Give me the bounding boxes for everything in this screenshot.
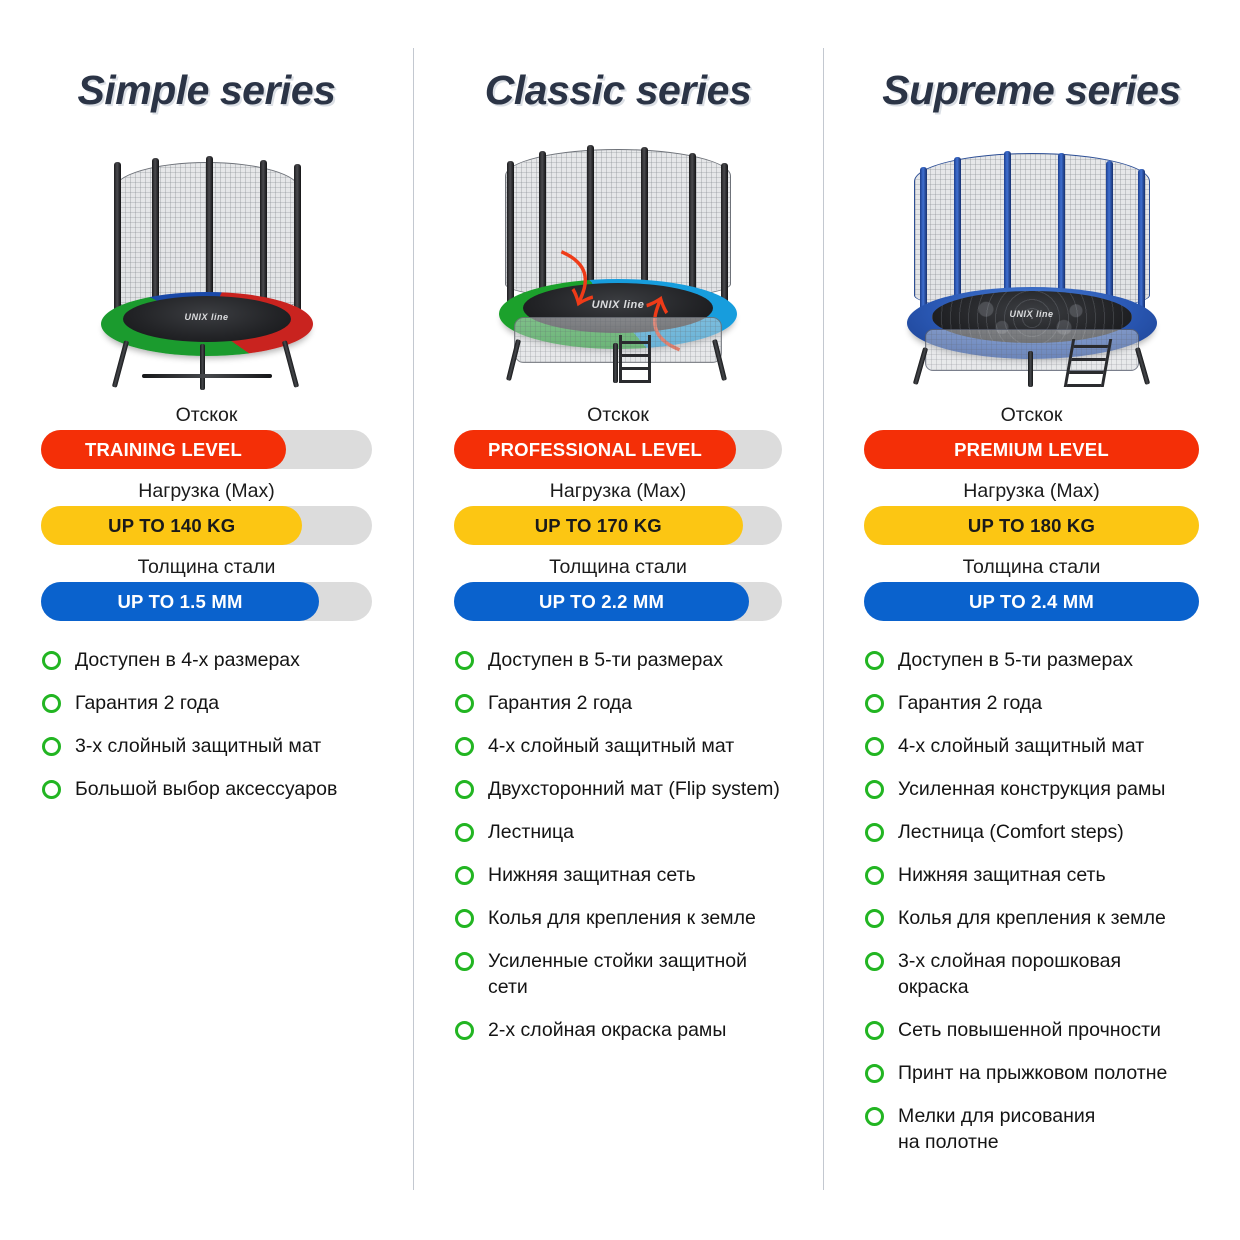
check-circle-icon (455, 866, 474, 885)
list-item: Усиленная конструкция рамы (865, 776, 1212, 802)
metrics-simple: Отскок TRAINING LEVEL Нагрузка (Max) UP … (0, 400, 413, 621)
list-item: Принт на прыжковом полотне (865, 1060, 1212, 1086)
list-item: 3-х слойный защитный мат (42, 733, 385, 759)
check-circle-icon (455, 694, 474, 713)
metric-bar-load: UP TO 180 KG (864, 506, 1199, 545)
page-title-simple: Simple series (0, 64, 413, 116)
list-item: 2-х слойная окраска рамы (455, 1017, 795, 1043)
metric-label-bounce: Отскок (41, 400, 372, 430)
brand-mark: UNIX line (592, 299, 645, 311)
metric-label-steel: Толщина стали (41, 552, 372, 582)
ladder-comfort-steps (1063, 339, 1111, 387)
metric-bar-steel: UP TO 2.2 MM (454, 582, 782, 621)
check-circle-icon (865, 1064, 884, 1083)
check-circle-icon (455, 823, 474, 842)
metric-bar-bounce: PREMIUM LEVEL (864, 430, 1199, 469)
list-item: Нижняя защитная сеть (865, 862, 1212, 888)
list-item: Усиленные стойки защитной сети (455, 948, 795, 1000)
brand-mark: UNIX line (184, 312, 228, 322)
metric-value-load: UP TO 140 KG (108, 515, 235, 537)
page-title-classic: Classic series (413, 64, 823, 116)
list-item: Нижняя защитная сеть (455, 862, 795, 888)
series-column-classic: Classic series UNIX line ⤵ ⤵ (413, 0, 823, 1240)
check-circle-icon (865, 737, 884, 756)
list-item: Колья для крепления к земле (455, 905, 795, 931)
list-item: Мелки для рисования на полотне (865, 1103, 1212, 1155)
metric-label-bounce: Отскок (454, 400, 782, 430)
metric-value-steel: UP TO 2.4 MM (969, 591, 1094, 613)
check-circle-icon (865, 1021, 884, 1040)
metric-value-load: UP TO 170 KG (535, 515, 662, 537)
product-image-classic: UNIX line ⤵ ⤵ (413, 134, 823, 384)
metric-value-load: UP TO 180 KG (968, 515, 1095, 537)
metric-label-load: Нагрузка (Max) (864, 476, 1199, 506)
list-item: 3-х слойная порошковая окраска (865, 948, 1212, 1000)
check-circle-icon (42, 694, 61, 713)
metric-bar-bounce: PROFESSIONAL LEVEL (454, 430, 782, 469)
list-item: Двухсторонний мат (Flip system) (455, 776, 795, 802)
check-circle-icon (865, 780, 884, 799)
metric-value-steel: UP TO 1.5 MM (117, 591, 242, 613)
metric-bar-load: UP TO 170 KG (454, 506, 782, 545)
metric-value-bounce: PROFESSIONAL LEVEL (488, 439, 702, 461)
metric-bar-steel: UP TO 1.5 MM (41, 582, 372, 621)
check-circle-icon (455, 952, 474, 971)
check-circle-icon (455, 1021, 474, 1040)
feature-list-supreme: Доступен в 5-ти размерах Гарантия 2 года… (823, 647, 1240, 1155)
check-circle-icon (865, 694, 884, 713)
metric-value-bounce: PREMIUM LEVEL (954, 439, 1109, 461)
check-circle-icon (455, 909, 474, 928)
series-column-simple: Simple series UNIX line Отс (0, 0, 413, 1240)
list-item: 4-х слойный защитный мат (455, 733, 795, 759)
check-circle-icon (455, 737, 474, 756)
metric-bar-steel: UP TO 2.4 MM (864, 582, 1199, 621)
metrics-supreme: Отскок PREMIUM LEVEL Нагрузка (Max) UP T… (823, 400, 1240, 621)
ladder (619, 335, 651, 383)
list-item: Лестница (455, 819, 795, 845)
list-item: Доступен в 5-ти размерах (455, 647, 795, 673)
check-circle-icon (865, 823, 884, 842)
check-circle-icon (865, 909, 884, 928)
check-circle-icon (42, 651, 61, 670)
list-item: Гарантия 2 года (455, 690, 795, 716)
metric-label-steel: Толщина стали (864, 552, 1199, 582)
list-item: Гарантия 2 года (865, 690, 1212, 716)
metric-value-steel: UP TO 2.2 MM (539, 591, 664, 613)
metric-label-bounce: Отскок (864, 400, 1199, 430)
check-circle-icon (42, 780, 61, 799)
series-column-supreme: Supreme series UNIX line (823, 0, 1240, 1240)
product-image-simple: UNIX line (0, 134, 413, 384)
metric-label-load: Нагрузка (Max) (41, 476, 372, 506)
metric-bar-load: UP TO 140 KG (41, 506, 372, 545)
check-circle-icon (455, 651, 474, 670)
feature-list-classic: Доступен в 5-ти размерах Гарантия 2 года… (413, 647, 823, 1043)
page-title-supreme: Supreme series (823, 64, 1240, 116)
metric-value-bounce: TRAINING LEVEL (85, 439, 242, 461)
list-item: Большой выбор аксессуаров (42, 776, 385, 802)
check-circle-icon (865, 952, 884, 971)
check-circle-icon (865, 651, 884, 670)
check-circle-icon (455, 780, 474, 799)
list-item: Доступен в 4-х размерах (42, 647, 385, 673)
list-item: 4-х слойный защитный мат (865, 733, 1212, 759)
series-comparison-board: Simple series UNIX line Отс (0, 0, 1240, 1240)
check-circle-icon (865, 1107, 884, 1126)
metrics-classic: Отскок PROFESSIONAL LEVEL Нагрузка (Max)… (413, 400, 823, 621)
list-item: Доступен в 5-ти размерах (865, 647, 1212, 673)
list-item: Колья для крепления к земле (865, 905, 1212, 931)
list-item: Гарантия 2 года (42, 690, 385, 716)
check-circle-icon (865, 866, 884, 885)
product-image-supreme: UNIX line (823, 134, 1240, 384)
brand-mark: UNIX line (1009, 309, 1053, 319)
list-item: Лестница (Comfort steps) (865, 819, 1212, 845)
check-circle-icon (42, 737, 61, 756)
metric-label-steel: Толщина стали (454, 552, 782, 582)
list-item: Сеть повышенной прочности (865, 1017, 1212, 1043)
metric-label-load: Нагрузка (Max) (454, 476, 782, 506)
metric-bar-bounce: TRAINING LEVEL (41, 430, 372, 469)
feature-list-simple: Доступен в 4-х размерах Гарантия 2 года … (0, 647, 413, 802)
